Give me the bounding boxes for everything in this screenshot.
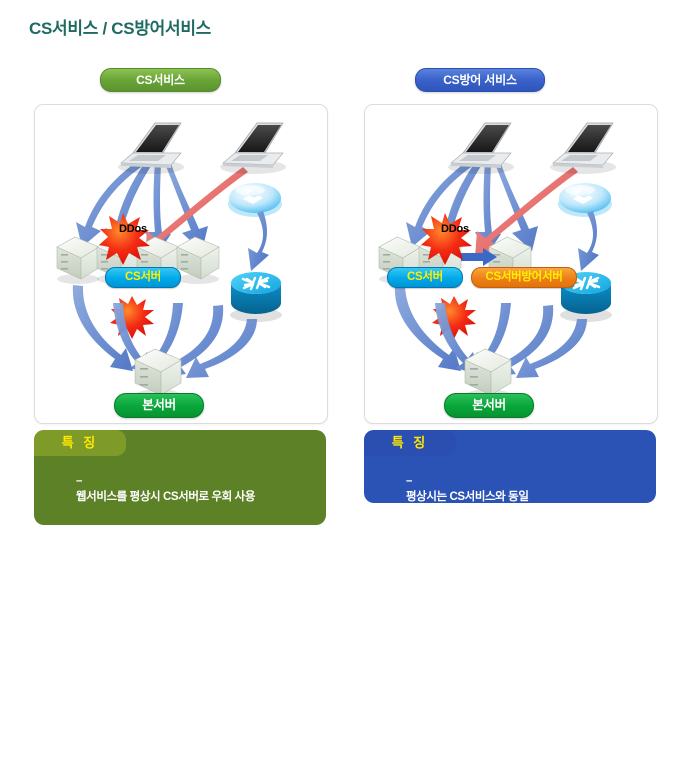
item-text: 공격시 앞단 CS서버만 차단, 나머지 CS서버는: [76, 623, 286, 635]
node-label-main-server[interactable]: 본서버: [114, 393, 204, 418]
arrow-cloud-to-router: [248, 211, 269, 271]
list-item: – 공격 해제 시 CS IP 변경 후 서비스 원상복구: [378, 588, 642, 654]
feature-list: – 평상시는 CS서비스와 동일 – CS 서버 공격으로 차단 시 방어존 C…: [378, 456, 642, 654]
bullet: –: [76, 607, 82, 619]
feature-list: – 웹서비스를 평상시 CS서버로 우회 사용 – 앞단 CS 서버를 여러 개…: [48, 456, 312, 770]
router-icon: [230, 272, 282, 322]
arrow-cloud-to-router: [578, 211, 599, 271]
column-cs-defense-service: CS방어 서비스: [350, 0, 670, 555]
diagram-panel-cs-defense-service: DDos CS서버 CS서버방어서버 본서버: [364, 104, 658, 424]
bullet: –: [76, 541, 82, 553]
ddos-label: DDos: [119, 223, 147, 235]
diagram-canvas-cs-service: [35, 105, 327, 423]
list-item: – CS서버 차단 해제 시 IP변경해서 서비스: [48, 704, 312, 770]
bullet: –: [406, 541, 412, 553]
feature-tab-label: 특 징: [34, 430, 126, 456]
item-text: 웹서비스를 평상시 CS서버로 우회 사용: [76, 491, 255, 503]
item-text: CS서버 차단 해제 시 IP변경해서 서비스: [76, 739, 258, 751]
column-cs-service: CS서비스: [20, 0, 340, 555]
list-item: – 웹서비스를 평상시 CS서버로 우회 사용: [48, 456, 312, 522]
cloud-icon: [558, 183, 612, 217]
bullet: –: [76, 722, 82, 734]
feature-tab-label: 특 징: [364, 430, 456, 456]
node-label-cs-server[interactable]: CS서버: [105, 267, 181, 288]
section-header-cs-service: CS서비스: [100, 68, 221, 92]
node-label-cs-server[interactable]: CS서버: [387, 267, 463, 288]
laptop-icon-client: [448, 123, 514, 174]
node-label-cs-defense-server[interactable]: CS서버방어서버: [471, 267, 577, 288]
diagram-page: CS서비스 / CS방어서비스 CS서비스: [0, 0, 680, 555]
section-header-cs-defense-service: CS방어 서비스: [415, 68, 545, 92]
list-item: – CS 서버 공격으로 차단 시 방어존 CS서버로 변경: [378, 522, 642, 588]
cloud-icon: [228, 183, 282, 217]
feature-box-cs-service: 특 징 – 웹서비스를 평상시 CS서버로 우회 사용 – 앞단 CS 서버를 …: [34, 430, 326, 525]
feature-box-cs-defense-service: 특 징 – 평상시는 CS서비스와 동일 – CS 서버 공격으로 차단 시 방…: [364, 430, 656, 503]
bullet: –: [76, 475, 82, 487]
laptop-icon-attacker: [550, 123, 616, 174]
item-text-cont: 정상 서비스 가능: [48, 654, 312, 671]
diagram-panel-cs-service: DDos CS서버 본서버: [34, 104, 328, 424]
node-label-main-server[interactable]: 본서버: [444, 393, 534, 418]
diagram-canvas-cs-defense-service: [365, 105, 657, 423]
item-text: 평상시는 CS서비스와 동일: [406, 491, 529, 503]
bullet: –: [406, 475, 412, 487]
list-item: – 공격시 앞단 CS서버만 차단, 나머지 CS서버는 정상 서비스 가능: [48, 588, 312, 704]
item-text: 앞단 CS 서버를 여러 개로 분리: [76, 557, 217, 569]
laptop-icon-attacker: [220, 123, 286, 174]
ddos-label: DDos: [441, 223, 469, 235]
laptop-icon-client: [118, 123, 184, 174]
item-text: 공격 해제 시 CS IP 변경 후 서비스 원상복구: [406, 623, 609, 635]
list-item: – 앞단 CS 서버를 여러 개로 분리: [48, 522, 312, 588]
list-item: – 평상시는 CS서비스와 동일: [378, 456, 642, 522]
item-text: CS 서버 공격으로 차단 시 방어존 CS서버로 변경: [406, 557, 629, 569]
bullet: –: [406, 607, 412, 619]
